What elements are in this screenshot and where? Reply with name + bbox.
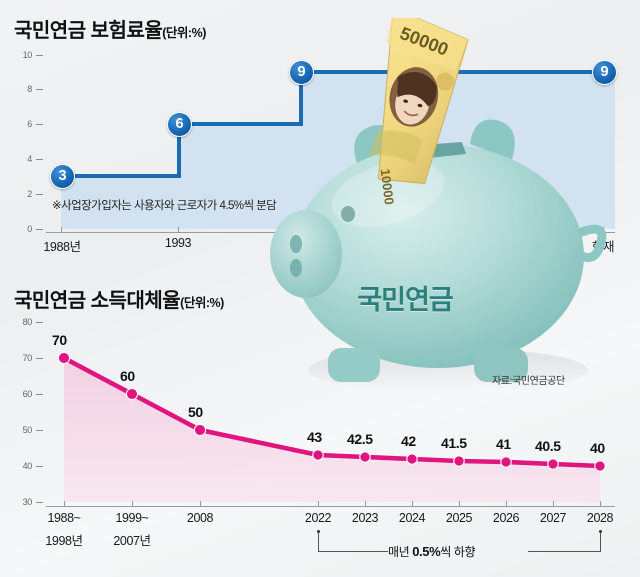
chart1-xlabel-1998: 1998 [264, 236, 336, 250]
chart2-ytick-50: 50 [6, 425, 32, 435]
chart1-xtick-1988 [61, 227, 62, 232]
chart1-ytick-8: 8 [6, 84, 32, 94]
chart1-title: 국민연금 보험료율(단위:%) [14, 14, 206, 43]
chart1-ytick-0: 0 [6, 224, 32, 234]
chart2-point-2023 [360, 452, 370, 462]
chart2-xtick-2026 [506, 501, 507, 506]
chart2-point-2025 [454, 456, 464, 466]
chart2-ydash-30 [36, 502, 43, 503]
chart1-title-unit: (단위:%) [162, 26, 206, 40]
chart2-ytick-80: 80 [6, 317, 32, 327]
chart1-xtick-1998 [300, 227, 301, 232]
chart2-bracket-rail-left [318, 551, 388, 552]
chart1-xtick-1993 [178, 227, 179, 232]
chart2-title-unit: (단위:%) [180, 296, 224, 310]
chart2-ydash-60 [36, 394, 43, 395]
chart2-x-axis [46, 506, 615, 507]
chart2-plot-area: 70 60 50 43 42.5 42 41.5 41 40.5 40 [50, 322, 615, 504]
infographic-root: 50000 10000 국민연금 자료:국민연금공단 국민연금 보험료율(단위:… [0, 0, 640, 577]
chart2-point-2027 [548, 459, 558, 469]
chart1-point-1993[interactable]: 6 [167, 112, 192, 137]
chart1-ytick-4: 4 [6, 154, 32, 164]
chart2-xtick-1999 [132, 501, 133, 506]
chart2-xtick-1988 [64, 501, 65, 506]
chart2-ytick-40: 40 [6, 461, 32, 471]
chart1-ydash-8 [36, 89, 43, 90]
chart2-ytick-30: 30 [6, 497, 32, 507]
chart2-label-50: 50 [188, 404, 203, 420]
chart2-label-40: 40 [590, 440, 605, 456]
chart1-line-level-6 [177, 122, 301, 126]
chart1-line-level-3 [61, 174, 181, 178]
chart2-xtick-2008 [200, 501, 201, 506]
chart2-ydash-70 [36, 358, 43, 359]
chart2-label-42-5: 42.5 [347, 431, 373, 447]
chart-premium-rate: 국민연금 보험료율(단위:%) 10 8 6 4 2 0 3 6 [0, 0, 640, 262]
chart1-xtick-current [603, 227, 604, 232]
chart1-point-current[interactable]: 9 [592, 60, 617, 85]
chart2-xtick-2025 [459, 501, 460, 506]
chart2-ytick-70: 70 [6, 353, 32, 363]
chart2-point-2026 [501, 457, 511, 467]
chart2-point-2008 [194, 424, 205, 435]
chart2-line-svg [50, 322, 615, 504]
chart1-x-axis [46, 232, 615, 233]
chart2-bracket-stem-left [318, 533, 319, 551]
chart2-ydash-80 [36, 322, 43, 323]
chart1-xlabel-1993: 1993 [142, 236, 214, 250]
chart1-footnote: ※사업장가입자는 사용자와 근로자가 4.5%씩 분담 [52, 197, 276, 213]
chart1-ydash-6 [36, 124, 43, 125]
chart2-annotation-prefix: 매년 [388, 545, 412, 559]
chart2-label-43: 43 [307, 429, 322, 445]
chart1-xlabel-1988: 1988년 [21, 236, 103, 255]
chart2-ytick-60: 60 [6, 389, 32, 399]
chart2-point-1988-1998 [58, 352, 69, 363]
chart2-point-1999-2007 [126, 388, 137, 399]
chart2-xtick-2024 [412, 501, 413, 506]
chart2-label-41: 41 [496, 436, 511, 452]
chart2-xtick-2027 [553, 501, 554, 506]
chart2-point-2022 [313, 450, 323, 460]
chart2-annotation-label: 매년 0.5%씩 하향 [388, 543, 475, 560]
chart1-ydash-4 [36, 159, 43, 160]
piggy-bank-label: 국민연금 [315, 278, 495, 317]
chart2-ydash-40 [36, 466, 43, 467]
chart2-xlabel-1999-b: 2007년 [92, 530, 172, 549]
chart2-ydash-50 [36, 430, 43, 431]
chart2-annotation-bold: 0.5% [412, 544, 440, 559]
chart1-point-1988[interactable]: 3 [50, 164, 75, 189]
chart1-ytick-2: 2 [6, 189, 32, 199]
chart1-ytick-6: 6 [6, 119, 32, 129]
chart2-xlabel-2008: 2008 [162, 511, 238, 525]
chart2-point-2024 [407, 454, 417, 464]
chart2-annotation-suffix: 씩 하향 [440, 545, 475, 559]
chart1-xlabel-current: 현재 [570, 236, 636, 255]
chart2-label-42: 42 [401, 433, 416, 449]
chart1-ydash-0 [36, 229, 43, 230]
chart2-label-60: 60 [120, 368, 135, 384]
chart2-label-70: 70 [52, 332, 67, 348]
chart2-xtick-2023 [365, 501, 366, 506]
chart2-bracket-stem-right [600, 533, 601, 551]
chart1-ytick-10: 10 [6, 50, 32, 60]
chart2-title-main: 국민연금 소득대체율 [14, 290, 180, 312]
source-attribution: 자료:국민연금공단 [492, 372, 565, 387]
chart2-bracket-rail-right [528, 551, 601, 552]
chart1-title-main: 국민연금 보험료율 [14, 20, 162, 42]
chart2-xlabel-2028: 2028 [570, 511, 630, 525]
chart2-label-40-5: 40.5 [535, 438, 561, 454]
chart1-area-segment-3 [300, 73, 615, 229]
chart1-ydash-10 [36, 55, 43, 56]
chart1-ydash-2 [36, 194, 43, 195]
chart2-title: 국민연금 소득대체율(단위:%) [14, 284, 224, 313]
chart2-label-41-5: 41.5 [441, 435, 467, 451]
chart1-area-segment-2 [178, 125, 300, 229]
chart2-point-2028 [595, 461, 605, 471]
chart2-xlabel-1999-a: 1999~ [92, 511, 172, 525]
chart1-line-level-9 [299, 70, 615, 74]
chart2-xtick-2022 [318, 501, 319, 506]
chart1-point-1998[interactable]: 9 [289, 60, 314, 85]
chart2-xtick-2028 [600, 501, 601, 506]
